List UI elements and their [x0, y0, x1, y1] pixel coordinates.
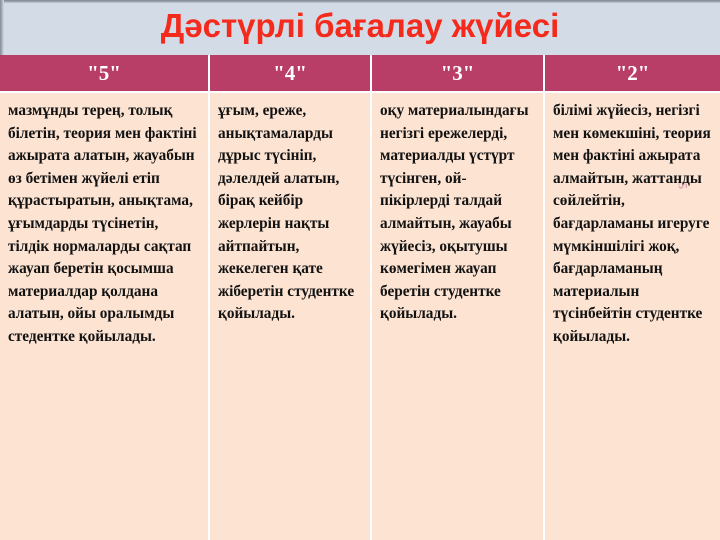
table-cell-criteria-grade-3: оқу материалындағы негізгі ережелерді, м… — [372, 93, 545, 540]
table-header-row: "5" "4" "3" "2" — [0, 55, 720, 91]
table-cell-criteria-grade-4: ұғым, ереже, анықтамаларды дұрыс түсініп… — [210, 93, 372, 540]
table-header-cell-grade-5: "5" — [0, 55, 210, 91]
page-title: Дәстүрлі бағалау жүйесі — [161, 8, 560, 44]
table-cell-criteria-grade-2: білімі жүйесіз, негізгі мен көмекшіні, т… — [545, 93, 720, 540]
table-header-cell-grade-2: "2" — [545, 55, 720, 91]
table-header-cell-grade-4: "4" — [210, 55, 372, 91]
slide-canvas: Дәстүрлі бағалау жүйесі "5" "4" "3" "2" … — [0, 0, 720, 540]
table-header-cell-grade-3: "3" — [372, 55, 545, 91]
table-cell-criteria-grade-5: мазмұнды терең, толық білетін, теория ме… — [0, 93, 210, 540]
grading-system-table: "5" "4" "3" "2" мазмұнды терең, толық бі… — [0, 55, 720, 540]
table-body-row: мазмұнды терең, толық білетін, теория ме… — [0, 91, 720, 540]
title-bar: Дәстүрлі бағалау жүйесі — [0, 0, 720, 52]
